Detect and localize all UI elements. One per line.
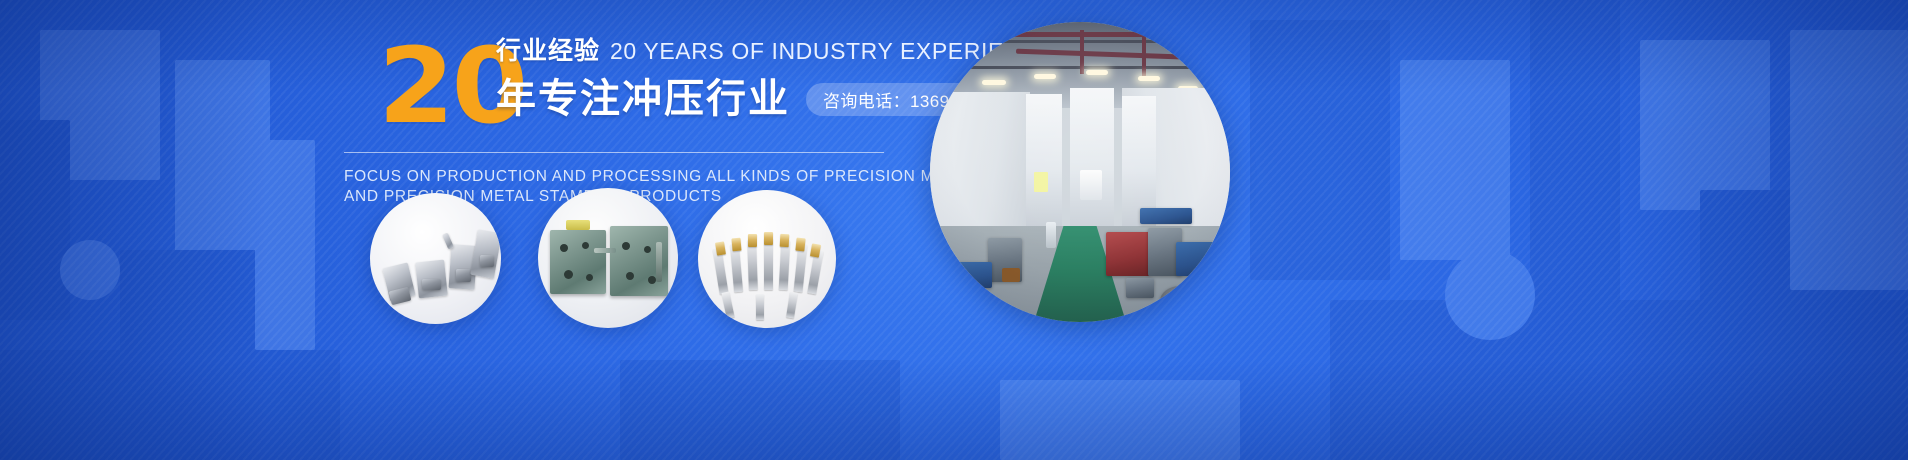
product-circle-connectors[interactable] xyxy=(370,193,501,324)
factory-photo-shading xyxy=(930,22,1230,322)
headline-divider xyxy=(344,152,884,153)
headline-cn-main: 年专注冲压行业 xyxy=(496,74,790,124)
product-circle-pins[interactable] xyxy=(698,190,836,328)
stamped-connector-parts xyxy=(370,193,501,324)
product-circle-mold[interactable] xyxy=(538,188,678,328)
stamping-mold-parts xyxy=(538,188,678,328)
stamped-terminal-pins xyxy=(698,190,836,328)
factory-photo[interactable] xyxy=(930,22,1230,322)
promo-banner: 20 行业经验 20 YEARS OF INDUSTRY EXPERIENCE … xyxy=(0,0,1908,460)
headline-cn-subtitle: 行业经验 xyxy=(496,36,600,66)
